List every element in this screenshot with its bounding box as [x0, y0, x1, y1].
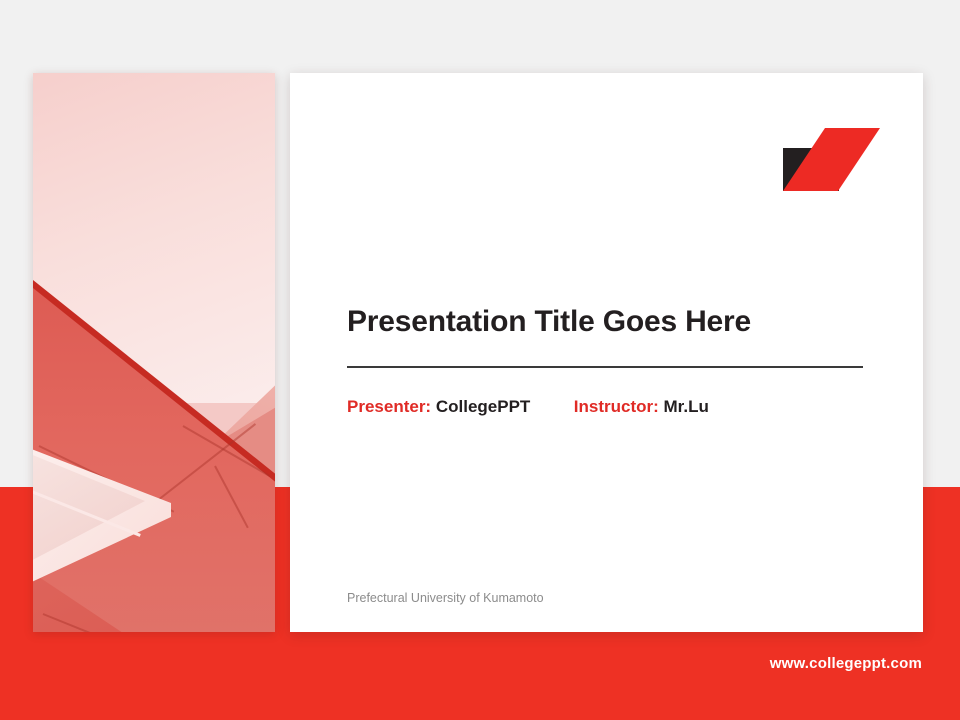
- brand-logo-icon: [783, 128, 883, 193]
- instructor-label: Instructor:: [574, 397, 659, 416]
- architecture-photo: [33, 73, 275, 632]
- affiliation-label: Prefectural University of Kumamoto: [347, 591, 544, 605]
- slide-card: Presentation Title Goes Here Presenter: …: [290, 73, 923, 632]
- photo-skylight: [33, 445, 181, 590]
- presenter-label: Presenter:: [347, 397, 431, 416]
- instructor-name: Mr.Lu: [664, 397, 709, 416]
- site-url-label: www.collegeppt.com: [770, 655, 922, 672]
- credits-line: Presenter: CollegePPT Instructor: Mr.Lu: [347, 397, 709, 417]
- cover-photo-panel: [33, 73, 275, 632]
- title-divider: [347, 366, 863, 368]
- page-title: Presentation Title Goes Here: [347, 305, 877, 339]
- slide-preview-stage: www.collegeppt.com: [0, 0, 960, 720]
- presenter-name: CollegePPT: [436, 397, 530, 416]
